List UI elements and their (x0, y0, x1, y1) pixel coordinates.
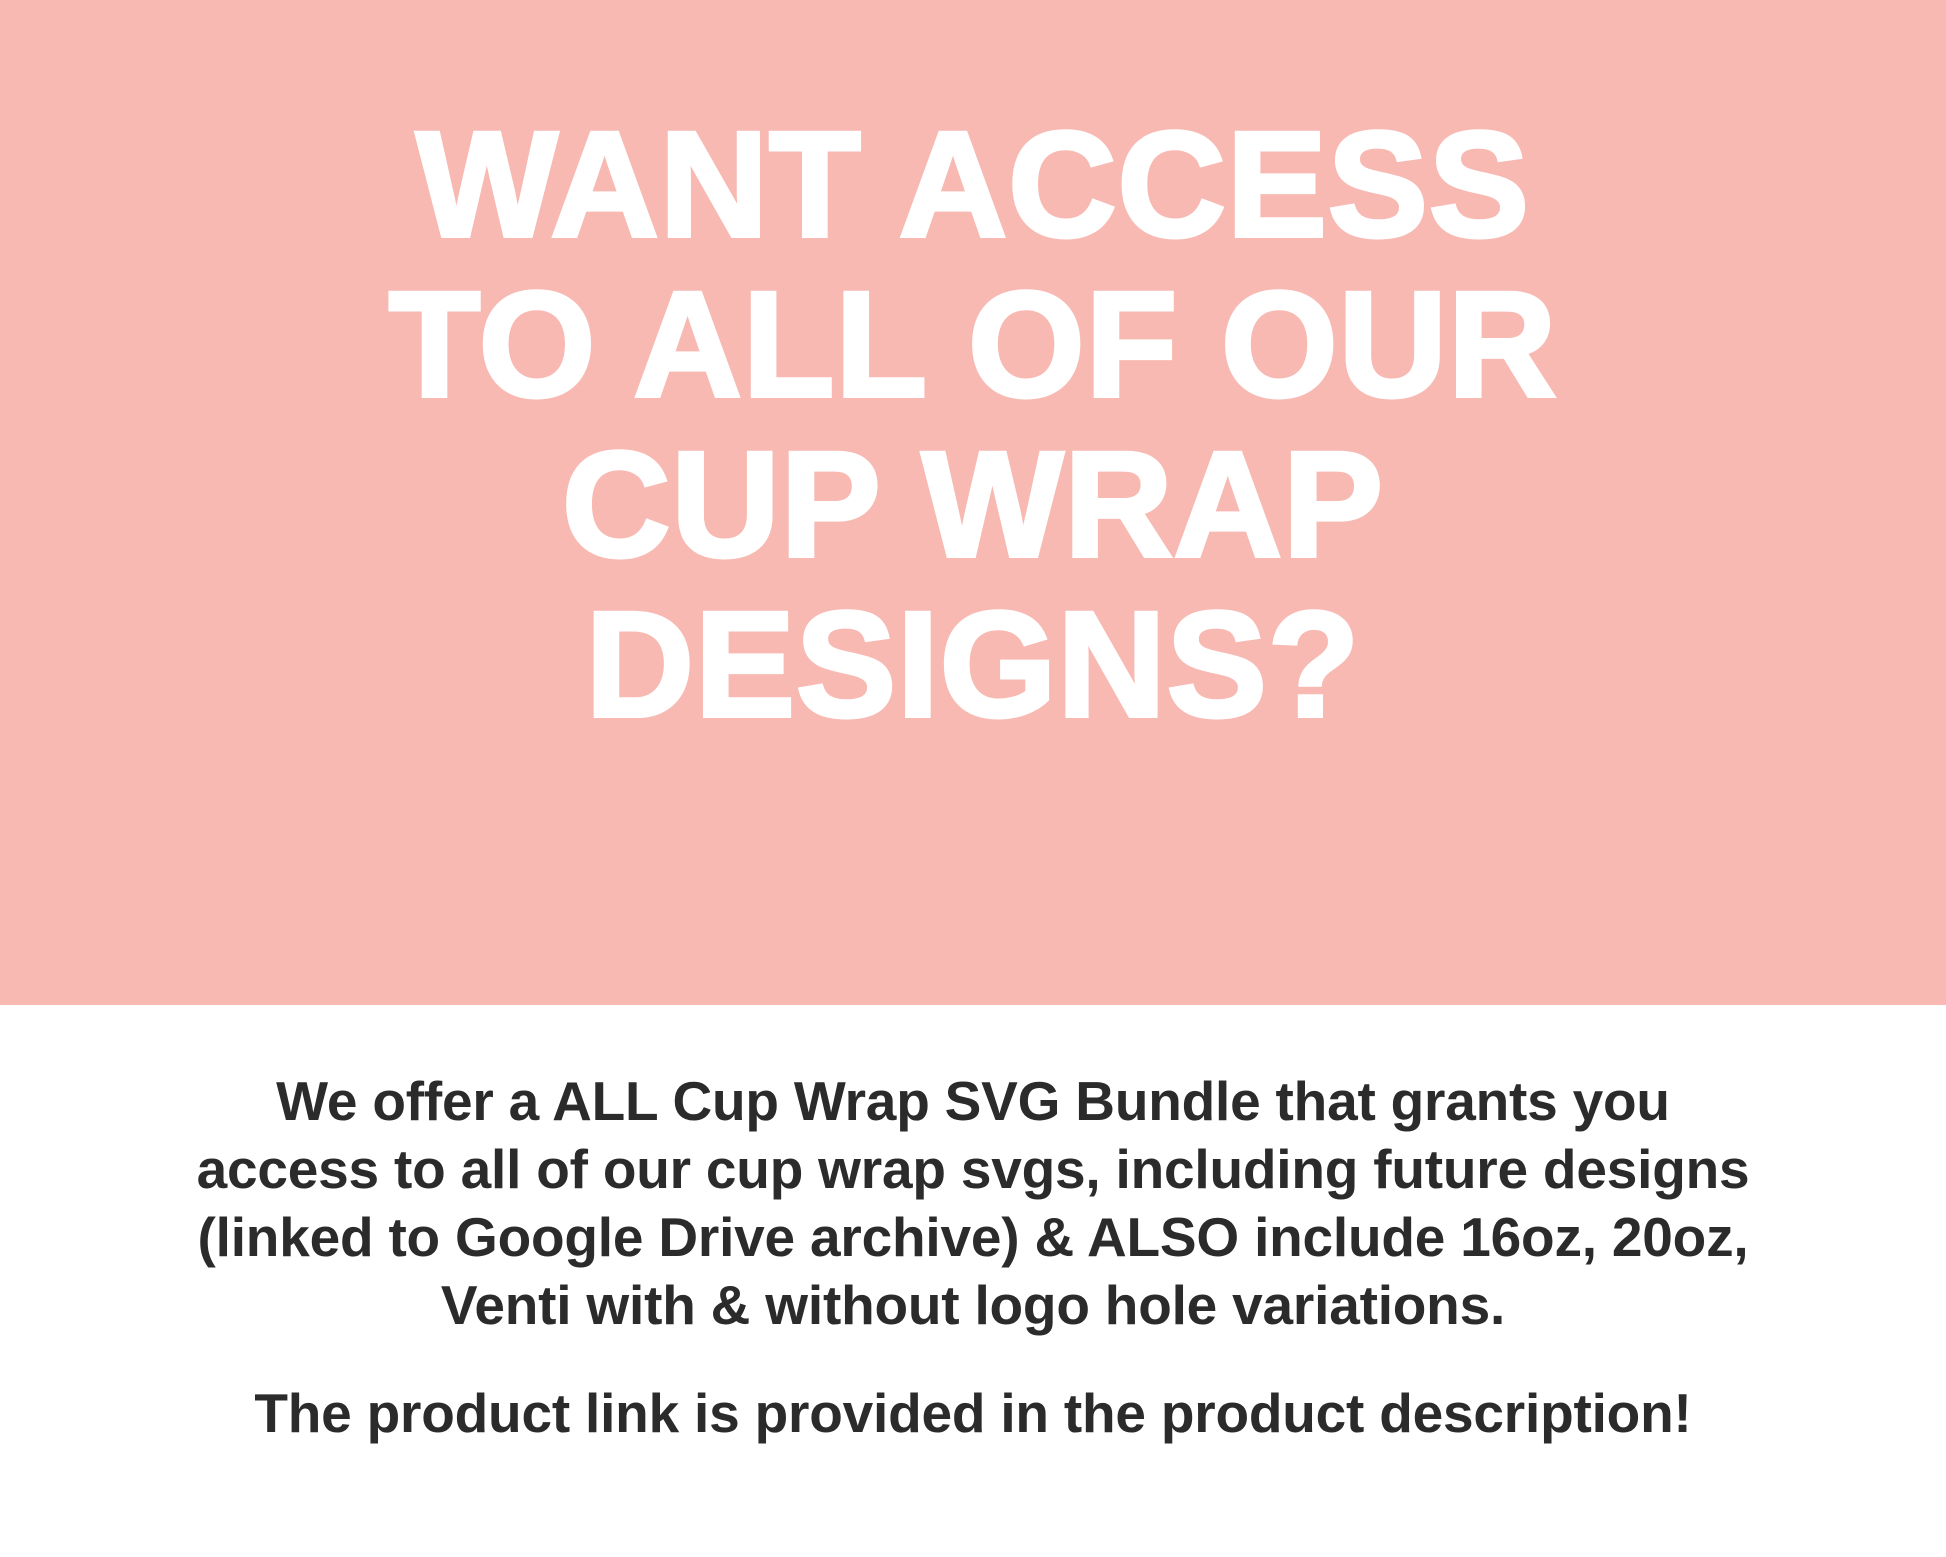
headline-line-1: WANT ACCESS (153, 104, 1793, 264)
description-line-3: (linked to Google Drive archive) & ALSO … (120, 1203, 1826, 1271)
description-section: We offer a ALL Cup Wrap SVG Bundle that … (0, 1005, 1946, 1557)
hero-headline: WANT ACCESS TO ALL OF OUR CUP WRAP DESIG… (153, 104, 1793, 744)
headline-line-4: DESIGNS? (153, 584, 1793, 744)
headline-line-3: CUP WRAP (153, 424, 1793, 584)
description-line-4: Venti with & without logo hole variation… (120, 1271, 1826, 1339)
hero-banner: WANT ACCESS TO ALL OF OUR CUP WRAP DESIG… (0, 0, 1946, 1005)
product-link-callout: The product link is provided in the prod… (120, 1379, 1826, 1447)
promo-graphic: WANT ACCESS TO ALL OF OUR CUP WRAP DESIG… (0, 0, 1946, 1557)
headline-line-2: TO ALL OF OUR (153, 264, 1793, 424)
description-line-2: access to all of our cup wrap svgs, incl… (120, 1135, 1826, 1203)
description-paragraph: We offer a ALL Cup Wrap SVG Bundle that … (120, 1067, 1826, 1339)
description-line-1: We offer a ALL Cup Wrap SVG Bundle that … (120, 1067, 1826, 1135)
